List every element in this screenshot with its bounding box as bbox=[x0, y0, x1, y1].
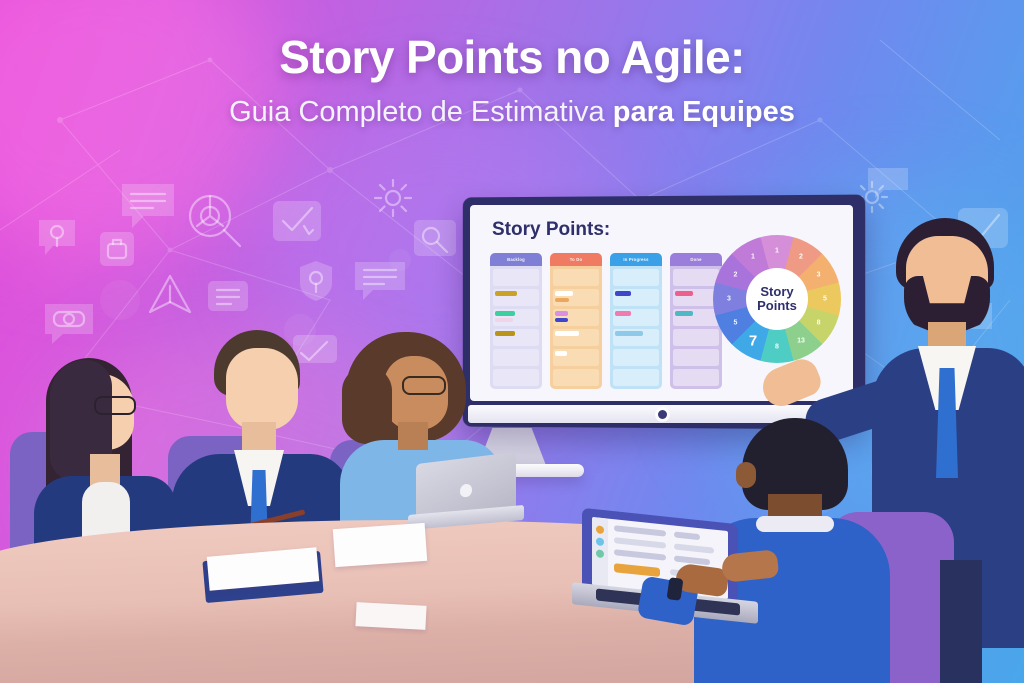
kanban-card[interactable] bbox=[613, 369, 659, 386]
face bbox=[226, 348, 298, 430]
kanban-card-chip bbox=[675, 311, 693, 316]
screen-row bbox=[614, 549, 666, 560]
kanban-card[interactable] bbox=[493, 309, 539, 326]
screen-row-highlight bbox=[614, 563, 660, 577]
wheel-segment-label: 7 bbox=[749, 332, 757, 349]
hand bbox=[721, 549, 780, 583]
sidebar-dot bbox=[596, 525, 604, 534]
kanban-column[interactable]: In Progress bbox=[610, 253, 662, 389]
wheel-segment-label: 3 bbox=[817, 272, 821, 279]
banner-illustration: Story Points no Agile: Guia Completo de … bbox=[0, 0, 1024, 683]
wheel-segment-label: 8 bbox=[817, 320, 821, 327]
glasses-icon bbox=[94, 396, 136, 415]
necktie bbox=[936, 368, 958, 478]
screen-heading: Story Points: bbox=[492, 219, 610, 241]
kanban-column-header: To Do bbox=[550, 253, 602, 266]
page-title: Story Points no Agile: bbox=[0, 34, 1024, 82]
sidebar-dot bbox=[596, 537, 604, 546]
kanban-card[interactable] bbox=[493, 269, 539, 286]
screen-row bbox=[674, 543, 714, 553]
kanban-card[interactable] bbox=[553, 289, 599, 306]
kanban-card[interactable] bbox=[613, 349, 659, 366]
kanban-card-chip bbox=[495, 318, 513, 323]
paper-document bbox=[333, 523, 427, 567]
kanban-card-chip bbox=[615, 291, 631, 296]
kanban-column-body bbox=[550, 266, 602, 389]
kanban-column[interactable]: To Do bbox=[550, 253, 602, 389]
wheel-segment-label: 5 bbox=[823, 296, 827, 303]
screen-row bbox=[614, 525, 666, 536]
kanban-card-chip bbox=[675, 291, 693, 296]
kanban-card-chip bbox=[615, 331, 643, 336]
screen-row bbox=[674, 531, 700, 540]
kanban-card-chip bbox=[555, 351, 567, 356]
wheel-segment-label: 8 bbox=[775, 344, 779, 351]
wheel-center-line2: Points bbox=[757, 299, 797, 313]
kanban-card[interactable] bbox=[553, 269, 599, 286]
presenter-leg bbox=[940, 560, 982, 683]
kanban-card-chip bbox=[495, 311, 515, 316]
kanban-card[interactable] bbox=[553, 349, 599, 366]
screen-row bbox=[614, 537, 666, 548]
kanban-card-chip bbox=[495, 291, 517, 296]
kanban-column-header: In Progress bbox=[610, 253, 662, 266]
kanban-card-chip bbox=[555, 291, 573, 296]
macbook-laptop bbox=[408, 458, 520, 532]
kanban-card[interactable] bbox=[553, 329, 599, 346]
neck bbox=[398, 422, 428, 450]
wheel-center-line1: Story bbox=[760, 285, 793, 299]
glasses-icon bbox=[402, 376, 446, 395]
wheel-segment-label: 1 bbox=[775, 248, 779, 255]
kanban-card[interactable] bbox=[553, 369, 599, 386]
paper-document bbox=[355, 602, 426, 630]
subtitle-normal: Guia Completo de Estimativa bbox=[229, 96, 613, 128]
wheel-segment-label: 13 bbox=[797, 337, 805, 344]
wheel-ring: Story Points 1235813875321 bbox=[713, 235, 841, 363]
wheel-segment-label: 2 bbox=[733, 272, 737, 279]
kanban-card[interactable] bbox=[553, 309, 599, 326]
sidebar-dot bbox=[596, 549, 604, 558]
kanban-card-chip bbox=[555, 298, 569, 303]
ear bbox=[736, 462, 756, 488]
kanban-card-chip bbox=[555, 311, 568, 316]
kanban-column-header: Backlog bbox=[490, 253, 542, 266]
kanban-card[interactable] bbox=[673, 369, 719, 386]
wheel-center-label: Story Points bbox=[746, 268, 808, 330]
wheel-segment-label: 3 bbox=[727, 296, 731, 303]
monitor-power-button bbox=[658, 410, 667, 419]
story-points-wheel: Story Points 1235813875321 bbox=[713, 235, 841, 363]
wheel-segment-label: 1 bbox=[751, 254, 755, 261]
wheel-segment-label: 5 bbox=[733, 320, 737, 327]
collar bbox=[756, 516, 834, 532]
kanban-card-chip bbox=[555, 318, 568, 323]
kanban-card[interactable] bbox=[613, 309, 659, 326]
kanban-board: BacklogTo DoIn ProgressDone bbox=[490, 253, 722, 389]
title-block: Story Points no Agile: Guia Completo de … bbox=[0, 34, 1024, 129]
kanban-card[interactable] bbox=[613, 329, 659, 346]
page-subtitle: Guia Completo de Estimativa para Equipes bbox=[0, 96, 1024, 129]
kanban-column-body bbox=[610, 266, 662, 389]
kanban-card[interactable] bbox=[613, 269, 659, 286]
kanban-card-chip bbox=[555, 331, 579, 336]
hair-curl-left bbox=[342, 366, 392, 444]
wheel-segment-label: 2 bbox=[799, 254, 803, 261]
kanban-card[interactable] bbox=[493, 289, 539, 306]
kanban-card[interactable] bbox=[613, 289, 659, 306]
kanban-card-chip bbox=[615, 311, 631, 316]
subtitle-bold: para Equipes bbox=[613, 96, 795, 128]
